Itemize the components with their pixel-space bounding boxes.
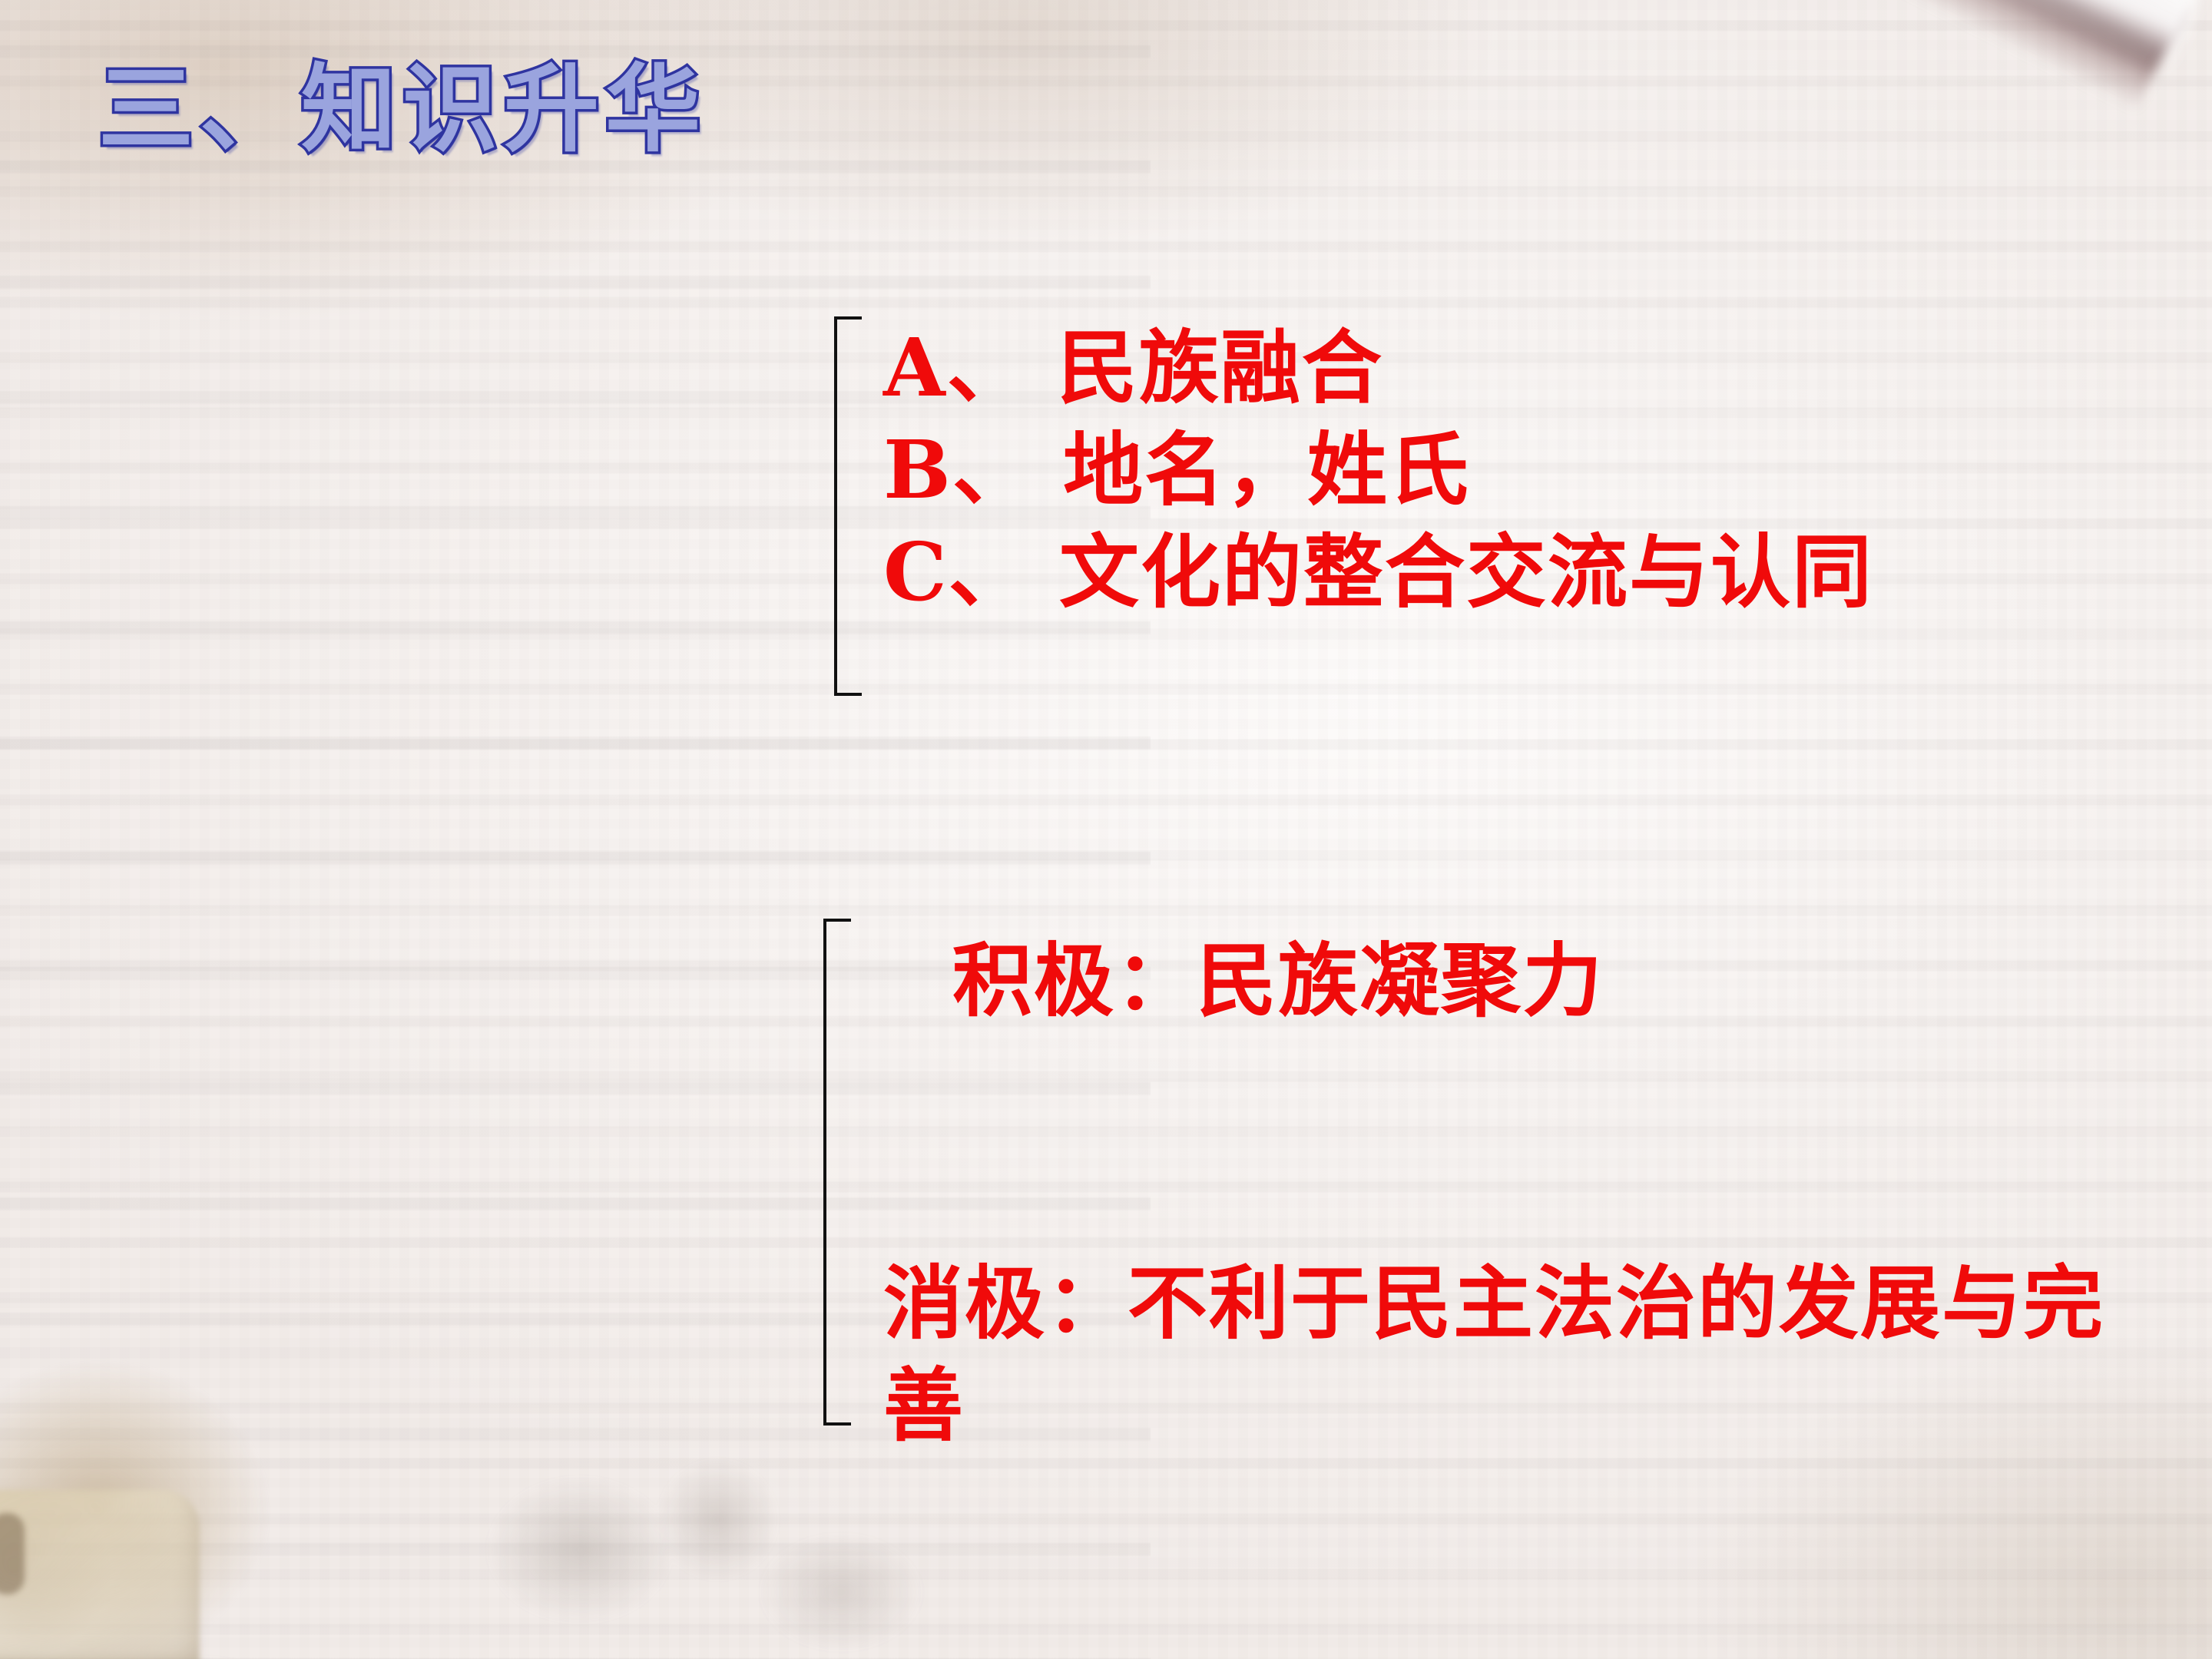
item-2-positive-effect: 积极：民族凝聚力 — [952, 929, 1604, 1031]
bottom-left-haze-2 — [676, 1482, 1006, 1659]
artifact-hole — [0, 1513, 25, 1594]
item-1-points-list: A、 民族融合 B、 地名，姓氏 C、 文化的整合交流与认同 — [883, 316, 1873, 623]
page-title: 三、知识升华 — [98, 60, 707, 160]
item-2-negative-effect: 消极：不利于民主法治的发展与完善 — [883, 1252, 2143, 1456]
artifact-body — [0, 1490, 200, 1659]
item-1-point-b: B、 地名，姓氏 — [883, 419, 1873, 521]
slide-canvas: 三、知识升华 1、分封制对后世 现实的影响 A、 民族融合 B、 地名，姓氏 C… — [0, 0, 2212, 1659]
bottom-left-artifact-decoration — [0, 1321, 453, 1659]
item-1-point-a: A、 民族融合 — [883, 316, 1873, 419]
item-1-point-c: C、 文化的整合交流与认同 — [883, 521, 1873, 623]
